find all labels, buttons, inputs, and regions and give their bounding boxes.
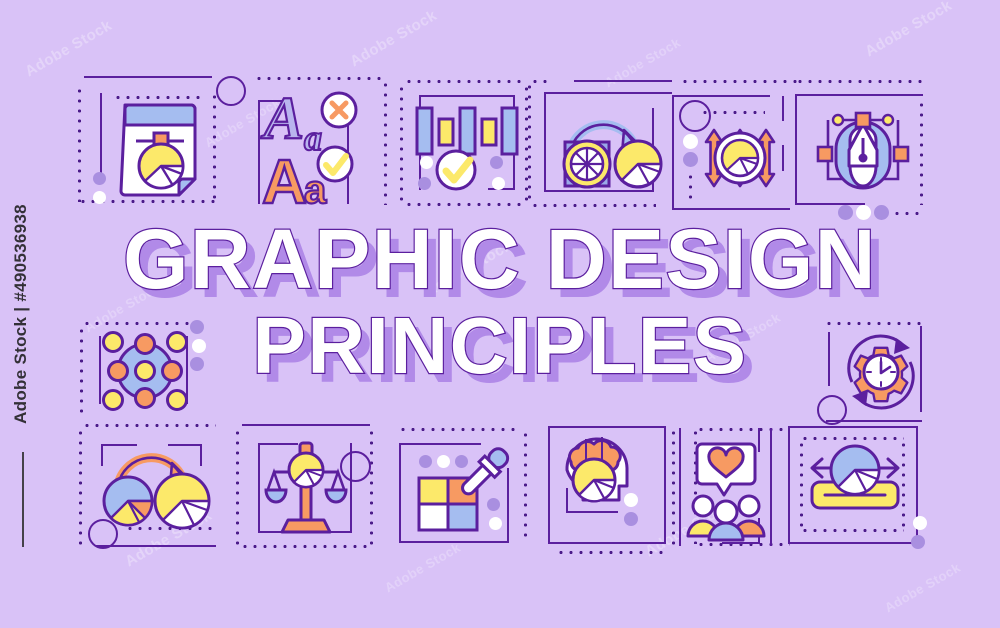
frame-dotted [795, 80, 925, 83]
watermark-tile: Adobe Stock [22, 17, 115, 80]
frame-line [574, 80, 672, 82]
frame-line [99, 336, 101, 404]
frame-dotted [370, 428, 373, 546]
frame-line [96, 545, 216, 547]
frame-line [399, 541, 509, 543]
frame-dotted [800, 529, 904, 532]
frame-dotted [528, 82, 531, 204]
frame-line [795, 94, 923, 96]
frame-dotted [524, 430, 527, 542]
frame-line [664, 426, 666, 544]
icon-typography: A a A a [262, 88, 374, 206]
frame-dotted [384, 80, 387, 205]
frame-line [788, 426, 790, 544]
frame-line [672, 95, 674, 210]
accent-dot [683, 152, 698, 167]
frame-line [544, 190, 654, 192]
watermark-tile: Adobe Stock [862, 0, 955, 60]
accent-dot [492, 177, 505, 190]
accent-dot [911, 535, 925, 549]
icon-scale-arrows [700, 118, 780, 198]
frame-line [419, 95, 515, 97]
accent-dot [913, 516, 927, 530]
watermark-tile: Adobe Stock [882, 560, 963, 615]
frame-line [258, 443, 260, 533]
frame-line [399, 443, 481, 445]
frame-line [828, 332, 830, 386]
frame-dotted [80, 326, 83, 418]
icon-design-document [120, 100, 206, 200]
icon-gear-clock [838, 330, 924, 414]
frame-dotted [82, 322, 190, 325]
frame-dotted [672, 428, 675, 546]
frame-dotted [530, 80, 552, 83]
frame-line [258, 100, 260, 204]
frame-dotted [79, 428, 82, 546]
frame-line [672, 208, 790, 210]
frame-line [782, 96, 784, 121]
frame-dotted [254, 77, 384, 80]
frame-line [770, 428, 772, 546]
icon-contrast [100, 443, 210, 529]
icon-balance [266, 440, 346, 536]
svg-text:A: A [262, 148, 307, 217]
frame-dotted [556, 551, 666, 554]
icon-color-picker [415, 448, 511, 532]
frame-dotted [800, 440, 803, 530]
frame-line [788, 542, 918, 544]
frame-dotted [240, 545, 370, 548]
frame-dotted [696, 428, 790, 431]
frame-line [84, 76, 212, 78]
frame-line [782, 145, 784, 171]
accent-dot [490, 156, 503, 169]
frame-dotted [530, 204, 656, 207]
frame-dotted [800, 437, 904, 440]
accent-dot [683, 134, 698, 149]
frame-line [100, 93, 102, 173]
accent-dot [93, 191, 106, 204]
frame-dotted [398, 428, 520, 431]
icon-alignment-bars [415, 106, 519, 190]
frame-dotted [404, 203, 522, 206]
frame-dotted [82, 424, 216, 427]
accent-dot [190, 357, 204, 371]
icon-audience [686, 440, 766, 540]
accent-circle [216, 76, 246, 106]
icon-pen-tool [810, 100, 916, 200]
frame-line [544, 92, 546, 192]
frame-dotted [689, 172, 692, 204]
frame-dotted [236, 428, 239, 546]
icon-proximity [808, 444, 902, 516]
frame-dotted [824, 322, 922, 325]
frame-line [795, 203, 865, 205]
frame-line [722, 542, 760, 544]
accent-dot [192, 339, 206, 353]
accent-dot [93, 172, 106, 185]
accent-dot [190, 320, 204, 334]
accent-dot [420, 156, 433, 169]
frame-line [548, 426, 550, 544]
icon-repetition [556, 104, 666, 190]
icon-psychology [553, 424, 643, 518]
headline-line-1-text: GRAPHIC DESIGN [0, 218, 1000, 301]
frame-line [788, 426, 918, 428]
frame-dotted [404, 80, 522, 83]
frame-line [399, 443, 401, 543]
icon-hierarchy [104, 332, 186, 410]
frame-line [544, 92, 672, 94]
frame-dotted [213, 92, 216, 202]
headline-line-1: GRAPHIC DESIGN GRAPHIC DESIGN [0, 218, 1000, 301]
watermark-tile: Adobe Stock [382, 540, 463, 595]
frame-line [795, 94, 797, 204]
frame-dotted [920, 100, 923, 205]
svg-text:A: A [260, 85, 304, 151]
frame-line [548, 542, 666, 544]
frame-dotted [113, 96, 200, 99]
frame-line [672, 95, 770, 97]
frame-dotted [902, 440, 905, 530]
frame-dotted [78, 86, 81, 202]
banner-canvas: Adobe Stock Adobe Stock Adobe Stock Adob… [0, 0, 1000, 628]
frame-dotted [400, 84, 403, 202]
accent-dot [418, 177, 431, 190]
frame-line [242, 424, 370, 426]
frame-dotted [680, 80, 800, 83]
frame-line [679, 428, 681, 546]
watermark-tile: Adobe Stock [347, 7, 440, 70]
watermark-divider [22, 452, 24, 547]
